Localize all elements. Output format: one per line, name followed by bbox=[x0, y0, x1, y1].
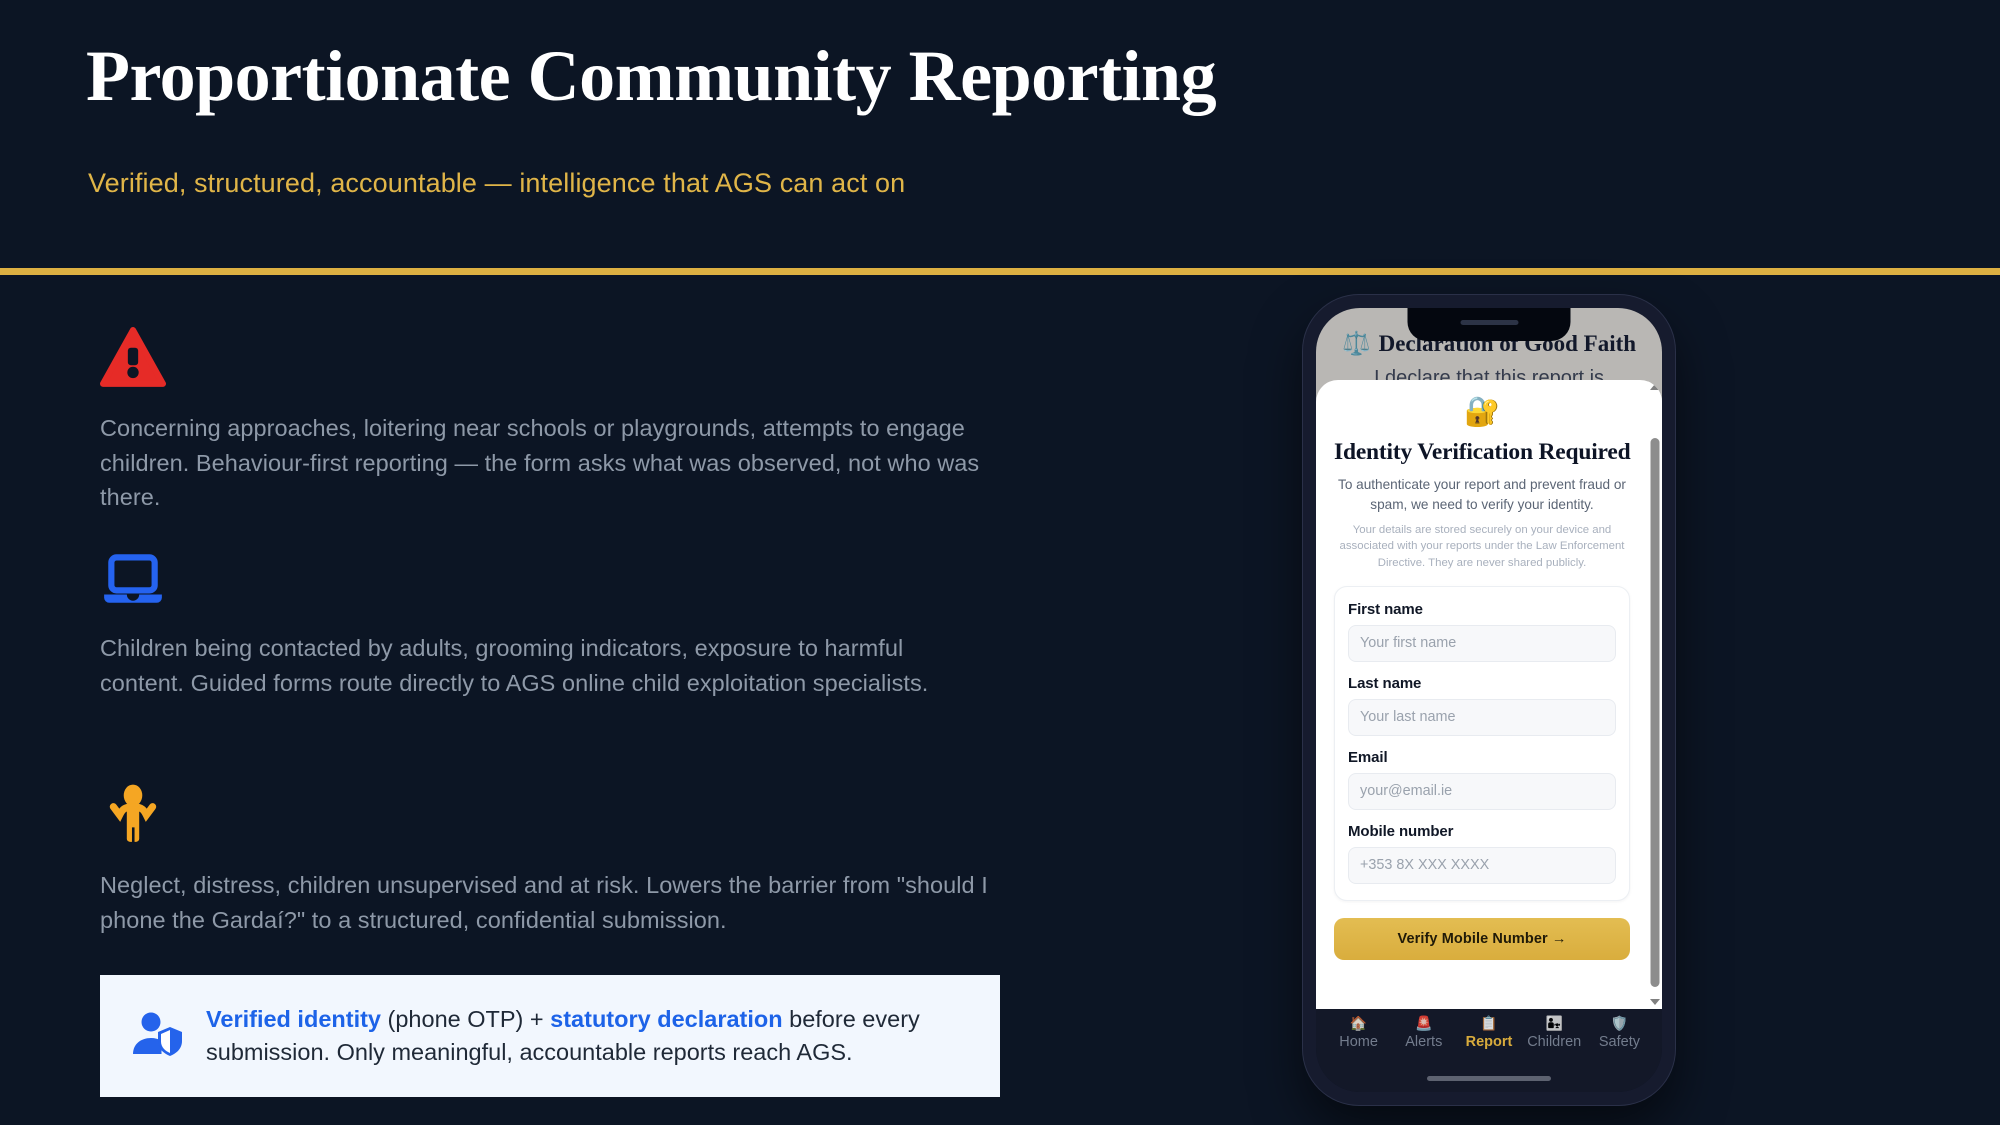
scales-icon: ⚖️ bbox=[1342, 330, 1371, 357]
nav-label-home: Home bbox=[1326, 1034, 1391, 1050]
nav-item-home[interactable]: 🏠 Home bbox=[1326, 1015, 1391, 1050]
identity-form: First name Your first name Last name You… bbox=[1334, 586, 1630, 901]
verified-identity-callout: Verified identity (phone OTP) + statutor… bbox=[100, 975, 1000, 1097]
phone-frame: ⚖️ Declaration of Good Faith I declare t… bbox=[1303, 295, 1675, 1105]
nav-label-children: Children bbox=[1522, 1034, 1587, 1050]
email-label: Email bbox=[1348, 749, 1616, 766]
modal-description: To authenticate your report and prevent … bbox=[1334, 475, 1630, 514]
callout-bold-statutory-declaration: statutory declaration bbox=[550, 1006, 782, 1032]
modal-content: 🔐 Identity Verification Required To auth… bbox=[1316, 380, 1648, 1009]
children-icon: 👨‍👧 bbox=[1522, 1015, 1587, 1031]
last-name-input[interactable]: Your last name bbox=[1348, 699, 1616, 736]
phone-notch bbox=[1408, 308, 1571, 341]
home-indicator bbox=[1427, 1076, 1551, 1081]
slide-root: Proportionate Community Reporting Verifi… bbox=[0, 0, 2000, 1125]
warning-triangle-icon bbox=[100, 325, 1040, 391]
first-name-input[interactable]: Your first name bbox=[1348, 625, 1616, 662]
feature-text: Children being contacted by adults, groo… bbox=[100, 631, 940, 700]
identity-verification-modal: 🔐 Identity Verification Required To auth… bbox=[1316, 380, 1662, 1009]
alerts-icon: 🚨 bbox=[1391, 1015, 1456, 1031]
modal-scrollbar[interactable] bbox=[1648, 380, 1662, 1009]
features-column: Concerning approaches, loitering near sc… bbox=[0, 275, 1250, 1125]
home-icon: 🏠 bbox=[1326, 1015, 1391, 1031]
slide-header: Proportionate Community Reporting Verifi… bbox=[0, 0, 2000, 268]
modal-title: Identity Verification Required bbox=[1334, 439, 1630, 466]
modal-privacy-note: Your details are stored securely on your… bbox=[1334, 522, 1630, 571]
mobile-number-label: Mobile number bbox=[1348, 823, 1616, 840]
feature-item-suspicious-behaviour: Concerning approaches, loitering near sc… bbox=[100, 325, 1040, 515]
callout-plain-1: (phone OTP) + bbox=[381, 1006, 550, 1032]
page-title: Proportionate Community Reporting bbox=[86, 36, 1216, 117]
phone-bottom-nav: 🏠 Home 🚨 Alerts 📋 Report 👨‍👧 bbox=[1316, 1009, 1662, 1092]
child-figure-icon bbox=[100, 782, 1040, 848]
header-divider bbox=[0, 268, 2000, 275]
callout-text: Verified identity (phone OTP) + statutor… bbox=[206, 1003, 972, 1070]
report-icon: 📋 bbox=[1456, 1015, 1521, 1031]
feature-text: Neglect, distress, children unsupervised… bbox=[100, 868, 1015, 937]
nav-item-report[interactable]: 📋 Report bbox=[1456, 1015, 1521, 1050]
first-name-label: First name bbox=[1348, 601, 1616, 618]
nav-label-safety: Safety bbox=[1587, 1034, 1652, 1050]
nav-item-children[interactable]: 👨‍👧 Children bbox=[1522, 1015, 1587, 1050]
email-input[interactable]: your@email.ie bbox=[1348, 773, 1616, 810]
nav-items: 🏠 Home 🚨 Alerts 📋 Report 👨‍👧 bbox=[1316, 1015, 1662, 1050]
scroll-up-arrow-icon[interactable] bbox=[1650, 384, 1660, 390]
laptop-icon bbox=[100, 545, 1040, 611]
scrollbar-thumb[interactable] bbox=[1651, 438, 1660, 987]
feature-item-online-harm: Children being contacted by adults, groo… bbox=[100, 545, 1040, 700]
feature-text: Concerning approaches, loitering near sc… bbox=[100, 411, 1005, 515]
feature-item-child-welfare: Neglect, distress, children unsupervised… bbox=[100, 782, 1040, 937]
phone-mockup: ⚖️ Declaration of Good Faith I declare t… bbox=[1303, 295, 1675, 1105]
notch-speaker bbox=[1460, 320, 1518, 325]
mobile-number-input[interactable]: +353 8X XXX XXXX bbox=[1348, 847, 1616, 884]
safety-icon: 🛡️ bbox=[1587, 1015, 1652, 1031]
lock-key-icon: 🔐 bbox=[1334, 398, 1630, 427]
phone-screen: ⚖️ Declaration of Good Faith I declare t… bbox=[1316, 308, 1662, 1092]
last-name-label: Last name bbox=[1348, 675, 1616, 692]
user-shield-icon bbox=[130, 1009, 184, 1063]
page-subtitle: Verified, structured, accountable — inte… bbox=[88, 168, 905, 199]
nav-label-report: Report bbox=[1456, 1034, 1521, 1050]
nav-item-alerts[interactable]: 🚨 Alerts bbox=[1391, 1015, 1456, 1050]
verify-mobile-number-button[interactable]: Verify Mobile Number → bbox=[1334, 918, 1630, 960]
callout-bold-verified-identity: Verified identity bbox=[206, 1006, 381, 1032]
nav-label-alerts: Alerts bbox=[1391, 1034, 1456, 1050]
nav-item-safety[interactable]: 🛡️ Safety bbox=[1587, 1015, 1652, 1050]
scroll-down-arrow-icon[interactable] bbox=[1650, 999, 1660, 1005]
